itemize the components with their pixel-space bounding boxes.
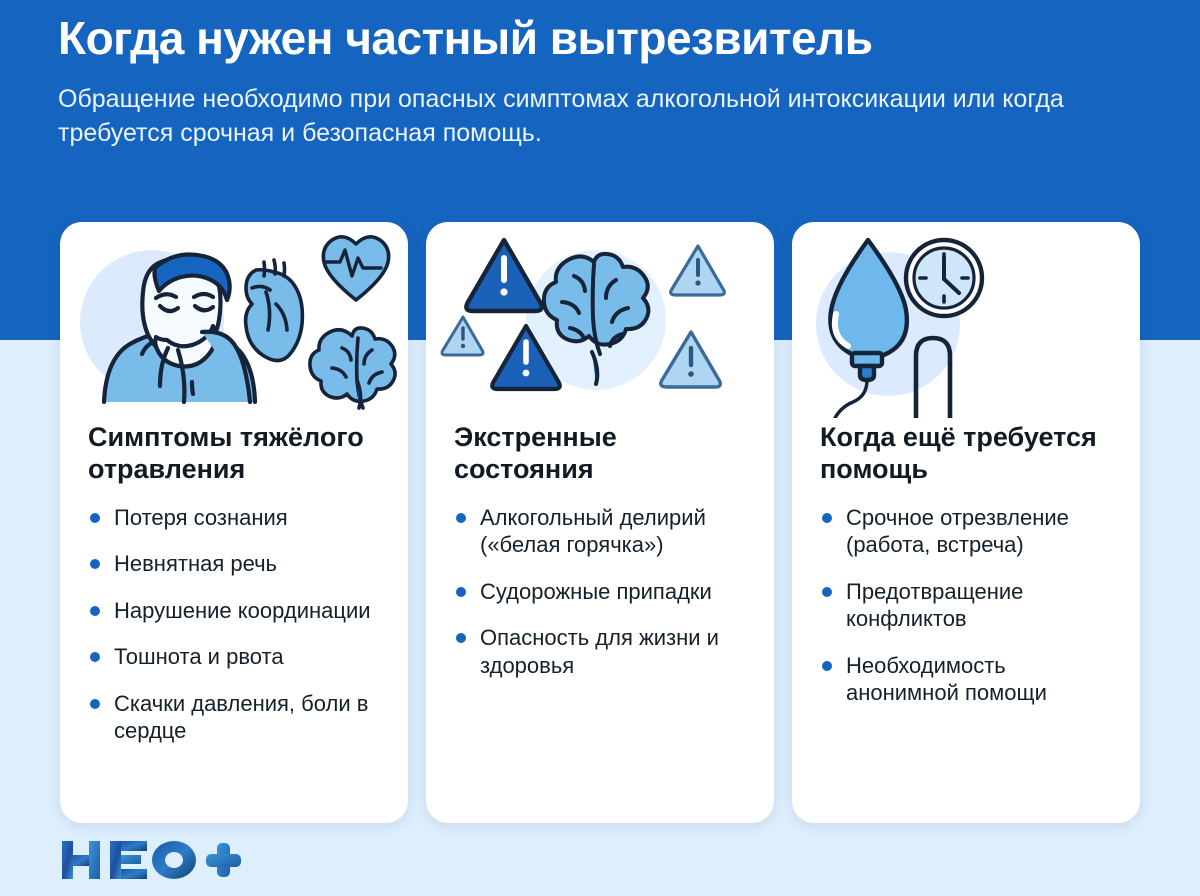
page-title: Когда нужен частный вытрезвитель xyxy=(58,14,1148,64)
list-item-label: Судорожные припадки xyxy=(480,579,712,604)
card-1-title: Симптомы тяжёлого отравления xyxy=(88,422,382,486)
list-item: Необходимость анонимной помощи xyxy=(820,652,1114,707)
brand-logo xyxy=(60,838,260,882)
list-item-label: Невнятная речь xyxy=(114,551,277,576)
bullet-dot-icon xyxy=(90,559,100,569)
anatomical-heart-icon xyxy=(246,260,303,361)
list-item: Алкогольный делирий («белая горячка») xyxy=(454,504,748,559)
bullet-dot-icon xyxy=(90,652,100,662)
bullet-dot-icon xyxy=(822,587,832,597)
list-item: Тошнота и рвота xyxy=(88,643,382,671)
brain-icon xyxy=(310,328,395,408)
bullet-dot-icon xyxy=(90,513,100,523)
card-2-title: Экстренные состояния xyxy=(454,422,748,486)
list-item: Скачки давления, боли в сердце xyxy=(88,690,382,745)
list-item-label: Нарушение координации xyxy=(114,598,371,623)
list-item-label: Необходимость анонимной помощи xyxy=(846,653,1047,706)
bullet-dot-icon xyxy=(822,661,832,671)
card-3-body: Когда ещё требуется помощь Срочное отрез… xyxy=(792,418,1140,727)
bullet-dot-icon xyxy=(456,513,466,523)
clock-icon xyxy=(906,240,982,316)
card-other-help-cases: Когда ещё требуется помощь Срочное отрез… xyxy=(792,222,1140,823)
card-2-body: Экстренные состояния Алкогольный делирий… xyxy=(426,418,774,699)
card-3-title: Когда ещё требуется помощь xyxy=(820,422,1114,486)
logo-plus-icon xyxy=(206,843,241,877)
card-1-bullet-list: Потеря сознания Невнятная речь Нарушение… xyxy=(88,504,382,745)
bullet-dot-icon xyxy=(90,606,100,616)
logo-letter-n xyxy=(62,841,100,879)
list-item-label: Скачки давления, боли в сердце xyxy=(114,691,368,744)
list-item: Опасность для жизни и здоровья xyxy=(454,624,748,679)
warning-triangle-icon xyxy=(661,332,721,387)
list-item: Срочное отрезвление (работа, встреча) xyxy=(820,504,1114,559)
list-item: Предотвращение конфликтов xyxy=(820,578,1114,633)
infographic-page: Когда нужен частный вытрезвитель Обращен… xyxy=(0,0,1200,896)
bullet-dot-icon xyxy=(90,699,100,709)
list-item: Невнятная речь xyxy=(88,550,382,578)
card-emergency-states: Экстренные состояния Алкогольный делирий… xyxy=(426,222,774,823)
list-item-label: Алкогольный делирий («белая горячка») xyxy=(480,505,706,558)
card-1-body: Симптомы тяжёлого отравления Потеря созн… xyxy=(60,418,408,765)
list-item-label: Опасность для жизни и здоровья xyxy=(480,625,719,678)
bullet-dot-icon xyxy=(456,633,466,643)
list-item: Потеря сознания xyxy=(88,504,382,532)
list-item-label: Потеря сознания xyxy=(114,505,288,530)
card-1-illustration xyxy=(60,222,408,418)
warning-triangle-icon xyxy=(466,240,541,311)
heart-pulse-icon xyxy=(323,237,388,300)
warning-triangle-icon xyxy=(442,317,483,355)
bullet-dot-icon xyxy=(822,513,832,523)
logo-letter-o xyxy=(152,841,196,879)
list-item-label: Срочное отрезвление (работа, встреча) xyxy=(846,505,1069,558)
card-3-bullet-list: Срочное отрезвление (работа, встреча) Пр… xyxy=(820,504,1114,707)
list-item-label: Тошнота и рвота xyxy=(114,644,284,669)
card-severe-poisoning: Симптомы тяжёлого отравления Потеря созн… xyxy=(60,222,408,823)
page-subtitle: Обращение необходимо при опасных симптом… xyxy=(58,82,1078,151)
list-item-label: Предотвращение конфликтов xyxy=(846,579,1023,632)
card-3-illustration xyxy=(792,222,1140,418)
cards-row: Симптомы тяжёлого отравления Потеря созн… xyxy=(60,222,1140,823)
list-item: Нарушение координации xyxy=(88,597,382,625)
warning-triangle-icon xyxy=(671,246,725,295)
logo-letter-e xyxy=(110,841,147,879)
header: Когда нужен частный вытрезвитель Обращен… xyxy=(58,14,1148,151)
bullet-dot-icon xyxy=(456,587,466,597)
list-item: Судорожные припадки xyxy=(454,578,748,606)
card-2-illustration xyxy=(426,222,774,418)
card-2-bullet-list: Алкогольный делирий («белая горячка») Су… xyxy=(454,504,748,680)
